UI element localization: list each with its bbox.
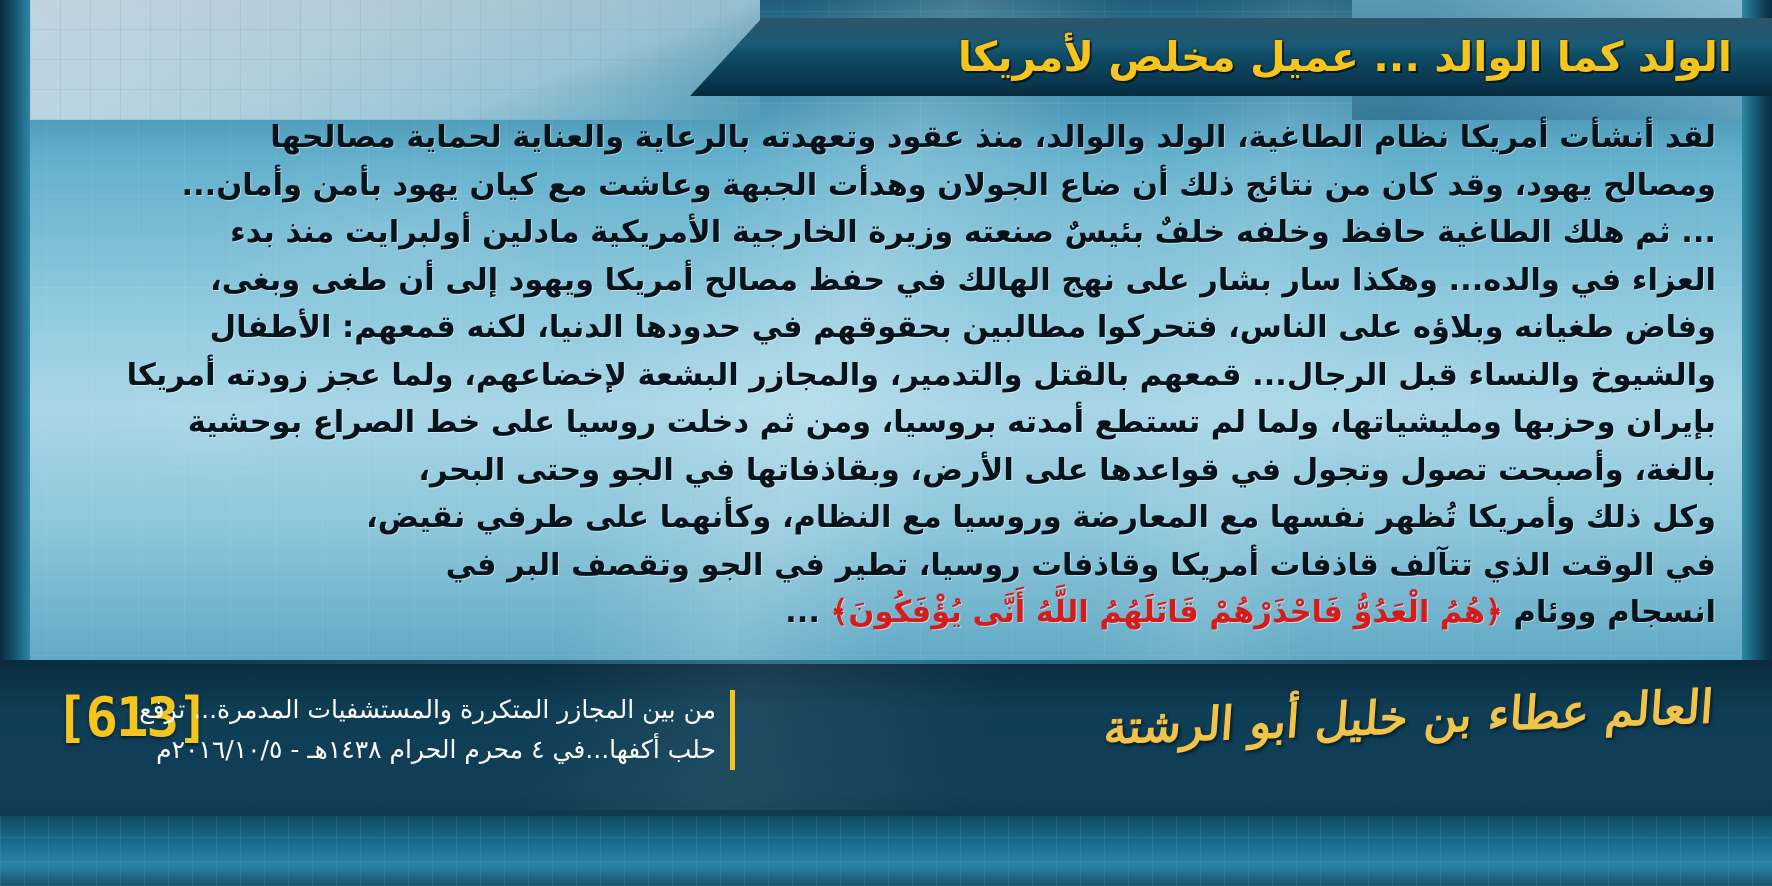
footer-caption: من بين المجازر المتكررة والمستشفيات المد… bbox=[235, 690, 735, 770]
poster-title: الولد كما الوالد ... عميل مخلص لأمريكا bbox=[690, 18, 1772, 96]
footer-caption-line-2: حلب أكفها...في ٤ محرم الحرام ١٤٣٨هـ - ٢٠… bbox=[235, 730, 716, 770]
title-banner: الولد كما الوالد ... عميل مخلص لأمريكا bbox=[690, 18, 1772, 96]
article-line: وكل ذلك وأمريكا تُظهر نفسها مع المعارضة … bbox=[56, 494, 1716, 542]
article-panel: لقد أنشأت أمريكا نظام الطاغية، الولد وال… bbox=[30, 100, 1742, 656]
article-line: ومصالح يهود، وقد كان من نتائج ذلك أن ضاع… bbox=[56, 162, 1716, 210]
article-body: لقد أنشأت أمريكا نظام الطاغية، الولد وال… bbox=[30, 100, 1742, 656]
quran-verse: ﴿هُمُ الْعَدُوُّ فَاحْذَرْهُمْ قَاتَلَهُ… bbox=[831, 595, 1503, 630]
footer-bottom-grid bbox=[0, 816, 1772, 886]
article-line: في الوقت الذي تتآلف قاذفات أمريكا وقاذفا… bbox=[56, 542, 1716, 590]
article-line-prefix: انسجام ووئام bbox=[1503, 595, 1716, 630]
article-line: العزاء في والده... وهكذا سار بشار على نه… bbox=[56, 257, 1716, 305]
article-line: وفاض طغيانه وبلاؤه على الناس، فتحركوا مط… bbox=[56, 304, 1716, 352]
article-line: بإيران وحزبها ومليشياتها، ولما لم تستطع … bbox=[56, 399, 1716, 447]
article-last-line: انسجام ووئام ﴿هُمُ الْعَدُوُّ فَاحْذَرْه… bbox=[56, 589, 1716, 637]
article-line: بالغة، وأصبحت تصول وتجول في قواعدها على … bbox=[56, 447, 1716, 495]
article-line: والشيوخ والنساء قبل الرجال... قمعهم بالق… bbox=[56, 352, 1716, 400]
footer-caption-line-1: من بين المجازر المتكررة والمستشفيات المد… bbox=[235, 690, 716, 730]
article-line-suffix: ... bbox=[785, 595, 830, 630]
article-line: ... ثم هلك الطاغية حافظ وخلفه خلفٌ بئيسٌ… bbox=[56, 209, 1716, 257]
article-line: لقد أنشأت أمريكا نظام الطاغية، الولد وال… bbox=[56, 114, 1716, 162]
poster-root: الولد كما الوالد ... عميل مخلص لأمريكا ل… bbox=[0, 0, 1772, 886]
